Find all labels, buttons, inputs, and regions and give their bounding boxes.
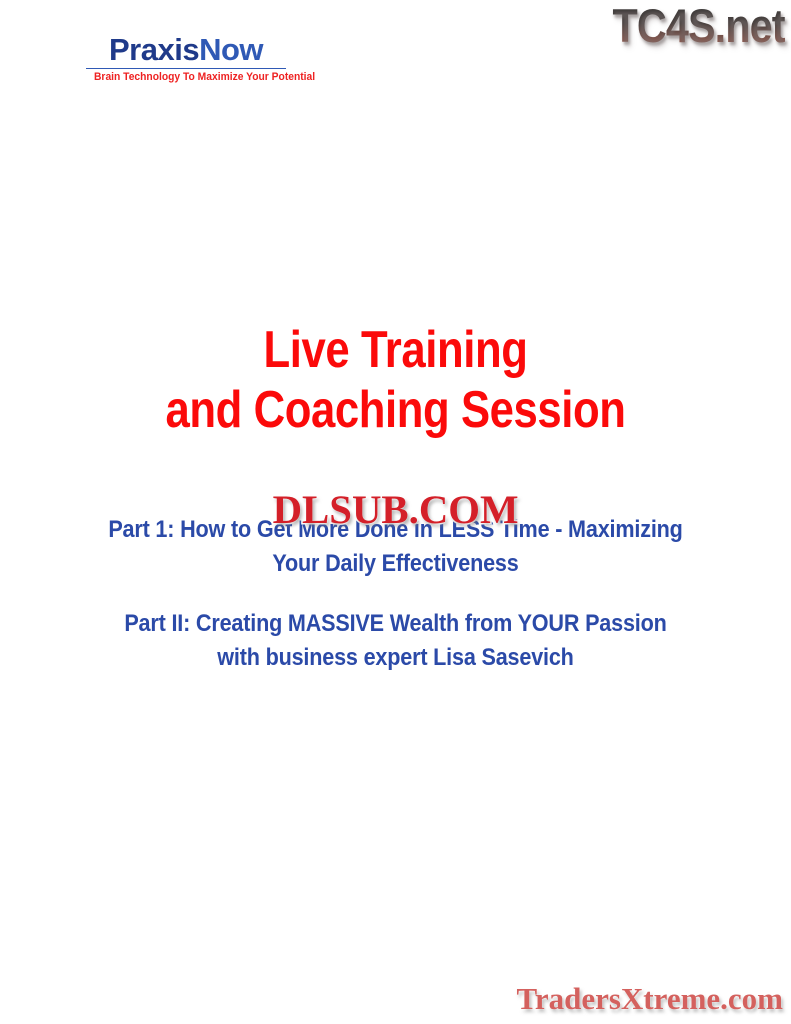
brand-divider-rule (86, 68, 286, 69)
brand-wordmark: PraxisNow (86, 33, 286, 66)
page-title-line-2: and Coaching Session (63, 380, 727, 440)
watermark-tc4s: TC4S.net (613, 0, 785, 54)
brand-name-praxis: Praxis (109, 32, 199, 67)
subtitle-part-one: Part 1: How to Get More Done in LESS Tim… (0, 513, 791, 581)
subtitle-part-two-line-1: Part II: Creating MASSIVE Wealth from YO… (40, 607, 752, 641)
document-page: PraxisNow Brain Technology To Maximize Y… (0, 0, 791, 1024)
page-title-line-1: Live Training (63, 320, 727, 380)
brand-tagline: Brain Technology To Maximize Your Potent… (94, 71, 278, 84)
praxisnow-logo: PraxisNow Brain Technology To Maximize Y… (86, 33, 286, 84)
brand-name-now: Now (199, 32, 263, 67)
subtitle-part-two-line-2: with business expert Lisa Sasevich (40, 641, 752, 675)
page-title: Live Training and Coaching Session (0, 320, 791, 440)
watermark-tradersxtreme: TradersXtreme.com (516, 980, 783, 1018)
subtitle-part-one-line-1: Part 1: How to Get More Done in LESS Tim… (40, 513, 752, 547)
subtitle-part-two: Part II: Creating MASSIVE Wealth from YO… (0, 607, 791, 675)
subtitle-part-one-line-2: Your Daily Effectiveness (40, 547, 752, 581)
